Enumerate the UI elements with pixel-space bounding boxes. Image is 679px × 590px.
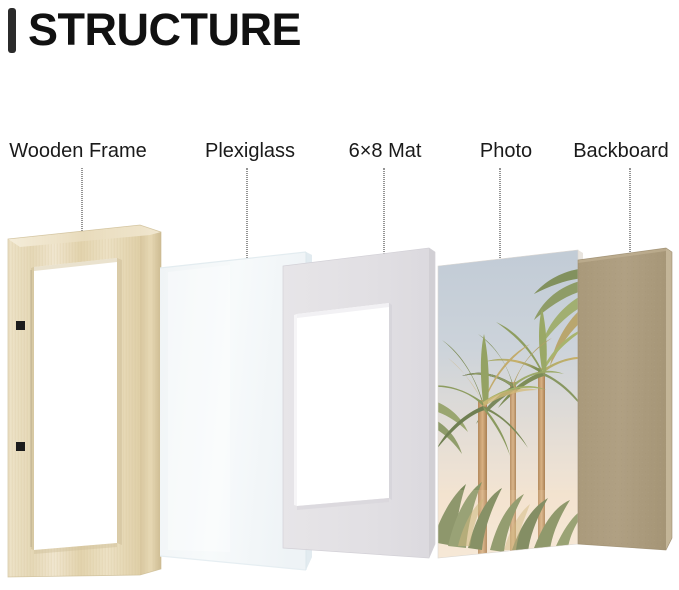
frame-clip-bottom [16, 442, 25, 451]
frame-clip-top [16, 321, 25, 330]
layer-wooden-frame[interactable] [0, 225, 172, 590]
layer-photo[interactable] [438, 250, 584, 558]
layer-mat[interactable] [283, 248, 443, 560]
layer-backboard[interactable] [578, 248, 679, 553]
exploded-diagram [0, 0, 679, 589]
